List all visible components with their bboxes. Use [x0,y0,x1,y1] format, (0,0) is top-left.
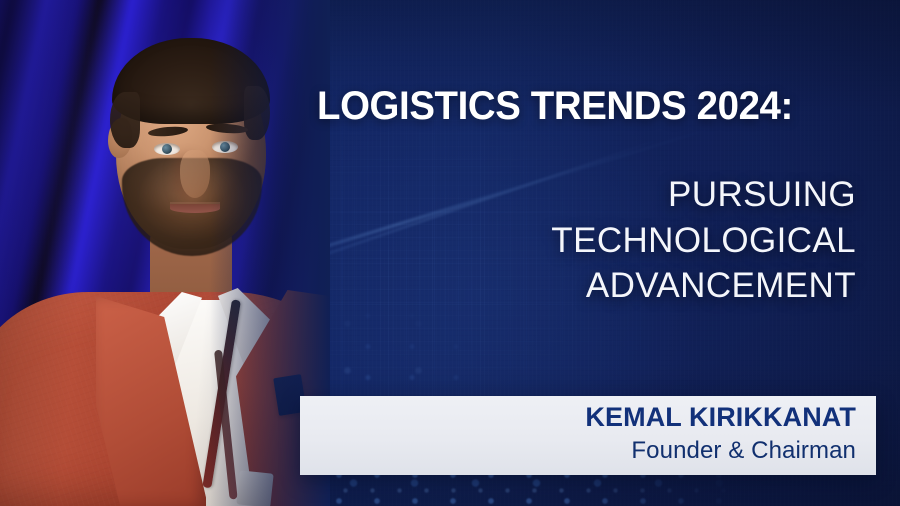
slide-subtitle: PURSUING TECHNOLOGICAL ADVANCEMENT [296,172,856,309]
presentation-slide: LOGISTICS TRENDS 2024: PURSUING TECHNOLO… [0,0,900,506]
subtitle-line-3: ADVANCEMENT [296,263,856,309]
subtitle-line-1: PURSUING [296,172,856,218]
speaker-name-bar: KEMAL KIRIKKANAT Founder & Chairman [300,396,876,475]
speaker-role: Founder & Chairman [585,436,856,466]
slide-title: LOGISTICS TRENDS 2024: [317,86,844,128]
speaker-photo [0,0,330,506]
speaker-name-block: KEMAL KIRIKKANAT Founder & Chairman [585,402,856,466]
speaker-name: KEMAL KIRIKKANAT [585,402,856,434]
subtitle-line-2: TECHNOLOGICAL [296,218,856,264]
